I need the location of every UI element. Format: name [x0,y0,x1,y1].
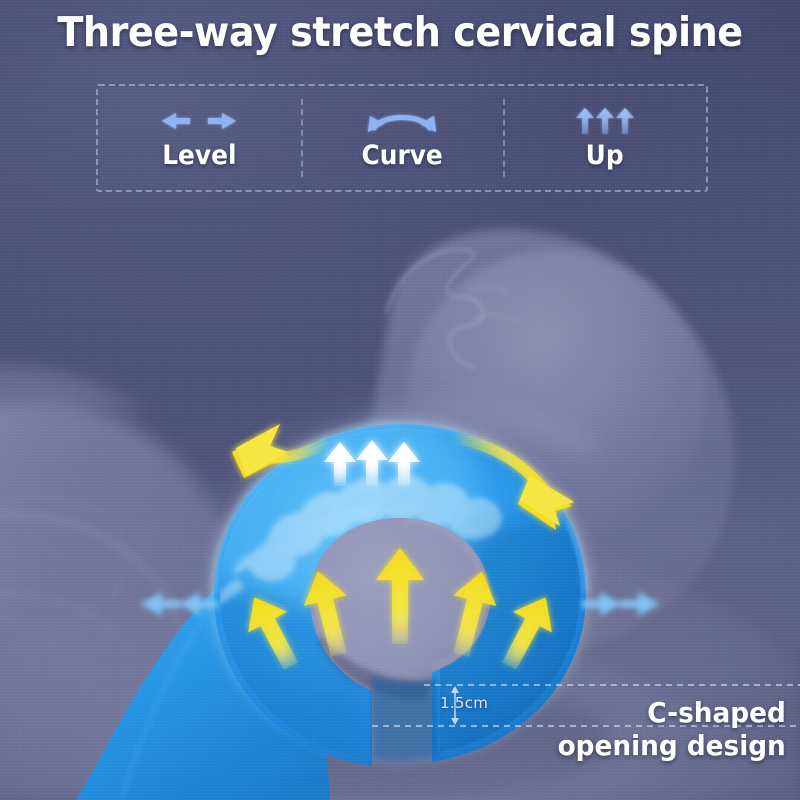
curved-double-arrow-icon [360,106,444,136]
feature-label-curve: Curve [361,140,442,171]
caption-line-2: opening design [558,730,786,762]
feature-label-up: Up [586,140,624,171]
product-marketing-image: Three-way stretch cervical spine [0,0,800,800]
measurement-value: 1.5cm [440,694,488,712]
page-title: Three-way stretch cervical spine [28,8,772,56]
feature-level[interactable]: Level [98,86,301,190]
feature-label-level: Level [162,140,236,171]
triple-up-arrow-icon [570,106,640,136]
feature-row: Level Curve [96,84,708,192]
feature-curve[interactable]: Curve [301,86,504,190]
feature-up[interactable]: Up [503,86,706,190]
double-horizontal-arrow-icon [160,106,238,136]
caption-line-1: C-shaped [558,697,786,729]
product-caption: C-shaped opening design [558,697,786,762]
